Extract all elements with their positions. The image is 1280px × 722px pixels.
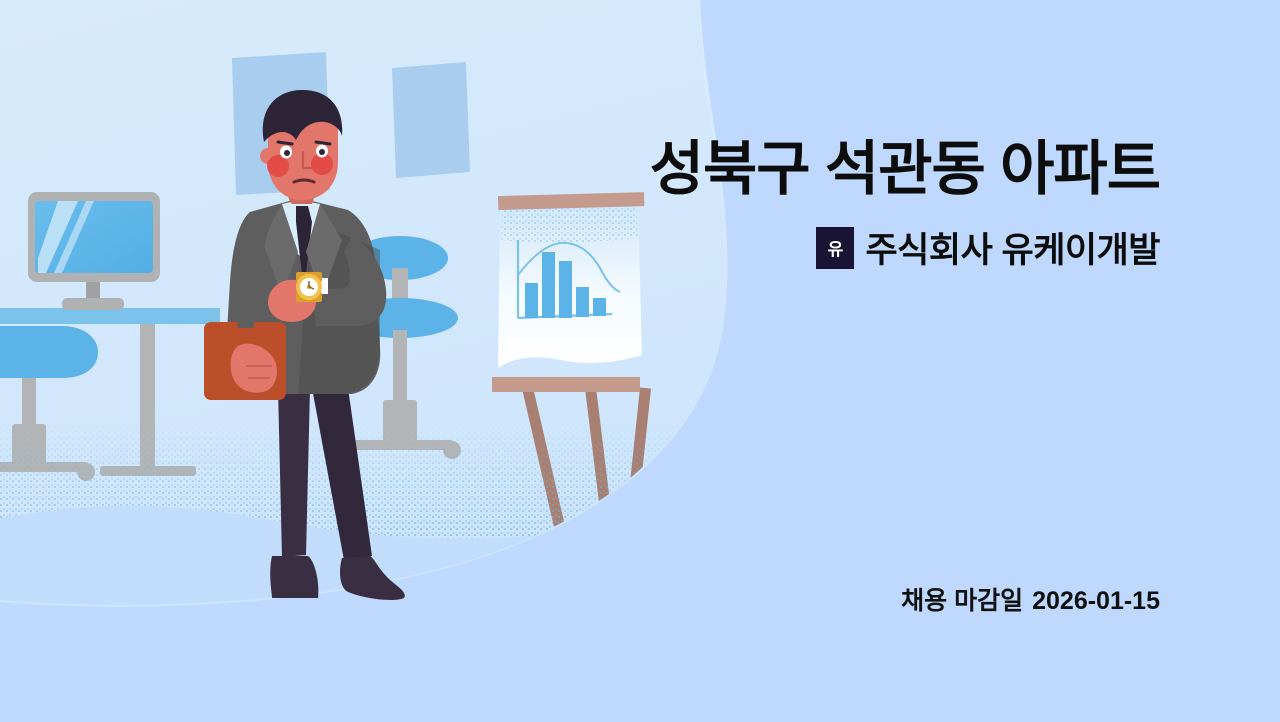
- deadline-date: 2026-01-15: [1032, 587, 1160, 615]
- company-name: 주식회사 유케이개발: [865, 222, 1160, 273]
- company-logo-badge: 유: [816, 227, 854, 269]
- company-row: 유 주식회사 유케이개발: [430, 222, 1160, 273]
- job-posting-poster: 성북구 석관동 아파트 유 주식회사 유케이개발 채용 마감일2026-01-1…: [0, 0, 1280, 722]
- page-title: 성북구 석관동 아파트: [430, 136, 1160, 202]
- application-deadline: 채용 마감일2026-01-15: [430, 581, 1160, 617]
- deadline-label: 채용 마감일: [901, 587, 1023, 615]
